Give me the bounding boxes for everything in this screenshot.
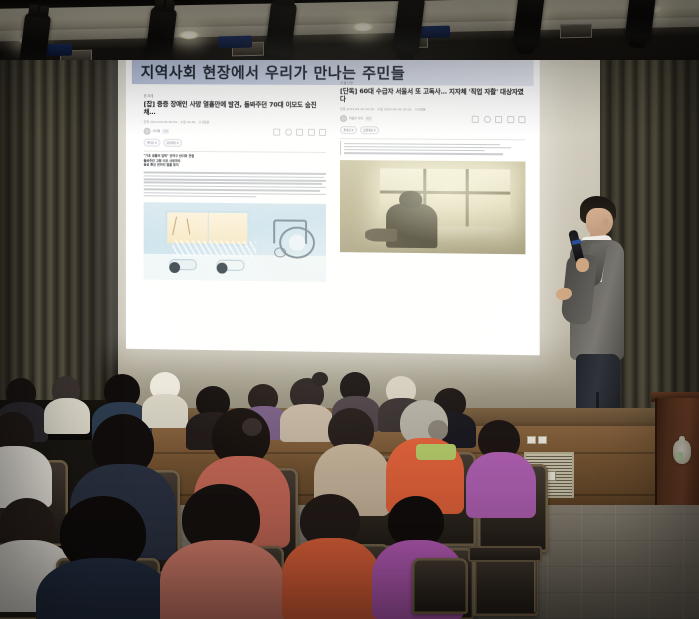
presenter-ear: [602, 218, 609, 227]
window-mullion: [207, 213, 209, 244]
empty-chair: [412, 558, 468, 614]
caption-rule: [340, 141, 341, 155]
reaction-chips-left: 좋아요 0 응원해요 0: [144, 139, 326, 148]
divider: [340, 138, 525, 140]
reporter-name-left: 기자명: [153, 129, 161, 133]
hair-bun: [428, 420, 448, 440]
bookmark-icon: [319, 129, 326, 136]
slide-article-grid: 한겨레 [잡] 중증 장애인 사망 열흘만에 발견, 돌봐주던 70대 이모도 …: [144, 93, 526, 349]
like-chip-left: 좋아요 0: [144, 139, 161, 147]
article-headline-right: [단독] 60대 수급자 서울서 또 고독사… 지자체 '직업 자활' 대상자였…: [340, 87, 525, 105]
article-photo-right: [340, 160, 525, 254]
news-article-right: 서울신문 [단독] 60대 수급자 서울서 또 고독사… 지자체 '직업 자활'…: [340, 80, 525, 349]
hair-bun: [242, 418, 262, 436]
article-caption-right: [340, 141, 525, 157]
translate-icon: [495, 116, 502, 123]
article-headline-left: [잡] 중증 장애인 사망 열흘만에 발견, 돌봐주던 70대 이모도 숨진채…: [144, 100, 326, 118]
hair-bun: [312, 372, 328, 386]
person-shoulders: [44, 398, 90, 434]
neck-scarf: [416, 444, 456, 460]
subscribe-tag-left: 구독: [162, 129, 169, 134]
stage-spotlight: [145, 7, 177, 60]
cheer-chip-right: 응원해요 0: [360, 126, 379, 134]
reaction-chips-right: 좋아요 0 응원해요 0: [340, 126, 525, 135]
person-shoulders: [36, 558, 172, 619]
audience: [0, 372, 699, 619]
blue-ceiling-panel: [218, 36, 252, 49]
figure-head: [216, 262, 227, 273]
presentation-slide: 지역사회 현장에서 우리가 만나는 주민들 한겨레 [잡] 중증 장애인 사망 …: [126, 51, 540, 355]
person-shoulders: [160, 540, 284, 619]
person-shoulders: [282, 538, 380, 619]
news-article-left: 한겨레 [잡] 중증 장애인 사망 열흘만에 발견, 돌봐주던 70대 이모도 …: [144, 93, 326, 346]
ceiling-light-rig: [0, 0, 699, 60]
chair-leg: [474, 562, 477, 614]
share-icon: [507, 116, 514, 123]
font-size-icon: [285, 129, 292, 136]
person-shoulders: [142, 394, 188, 428]
tree-branch-icon: [172, 216, 177, 234]
stage-spotlight: [19, 13, 51, 60]
avatar: [144, 128, 151, 135]
article-meta-right: 이상진 기자 구독: [340, 115, 525, 123]
bookmark-icon: [518, 116, 525, 123]
tree-branch-icon: [187, 218, 191, 234]
like-chip-right: 좋아요 0: [340, 126, 357, 134]
article-meta-left: 기자명 구독: [144, 128, 326, 136]
reporter-block-left: 기자명 구독: [144, 128, 170, 135]
presenter-hand-holding-mic: [576, 258, 589, 272]
print-icon: [472, 116, 479, 123]
lying-figure: [169, 262, 197, 270]
article-body-left: [144, 172, 326, 199]
article-action-icons-left: [273, 129, 326, 136]
stage-curtain-left-shadow: [0, 18, 118, 400]
font-size-icon: [483, 116, 490, 123]
article-byline-left: 입력 2024-00-00 00:00 · 수정 00:00 · 기사원문: [144, 120, 326, 125]
avatar: [340, 115, 347, 122]
downlight: [352, 22, 374, 32]
divider: [144, 150, 326, 152]
auditorium-photo: 지역사회 현장에서 우리가 만나는 주민들 한겨레 [잡] 중증 장애인 사망 …: [0, 0, 699, 619]
person-shoulders: [280, 404, 334, 442]
chair-leg: [534, 562, 537, 612]
subscribe-tag-right: 구독: [365, 116, 372, 121]
article-illustration-left: [144, 203, 326, 283]
wheelchair-icon: [271, 219, 315, 258]
reporter-name-right: 이상진 기자: [349, 117, 363, 121]
share-icon: [308, 129, 315, 136]
figure-head: [169, 262, 180, 273]
article-subheads-left: "기초 생활비 압박" 관악구 반지하 연립 돌봐주던 고령 이모 사망까지 동…: [144, 153, 326, 169]
print-icon: [273, 129, 280, 136]
cheer-chip-left: 응원해요 0: [163, 139, 182, 147]
article-source-left: 한겨레: [144, 93, 326, 99]
article-byline-right: 입력 2024-00-00 00:00 · 수정 2024-00-00 00:0…: [340, 107, 525, 112]
subhead: 동료 확인 전까지 열흘 방치: [144, 163, 326, 169]
downlight: [178, 30, 200, 40]
article-source-right: 서울신문: [340, 80, 525, 86]
article-action-icons-right: [472, 116, 526, 123]
lying-figure: [216, 262, 244, 270]
translate-icon: [296, 129, 303, 136]
projection-screen: 지역사회 현장에서 우리가 만나는 주민들 한겨레 [잡] 중증 장애인 사망 …: [126, 51, 540, 355]
photo-window-glow: [340, 160, 525, 254]
person-shoulders: [466, 452, 536, 518]
reporter-block-right: 이상진 기자 구독: [340, 115, 372, 122]
empty-chair-seat: [468, 546, 542, 562]
stage-spotlight: [265, 1, 297, 58]
ceiling-vent: [560, 24, 592, 39]
light-rays: [173, 240, 257, 256]
